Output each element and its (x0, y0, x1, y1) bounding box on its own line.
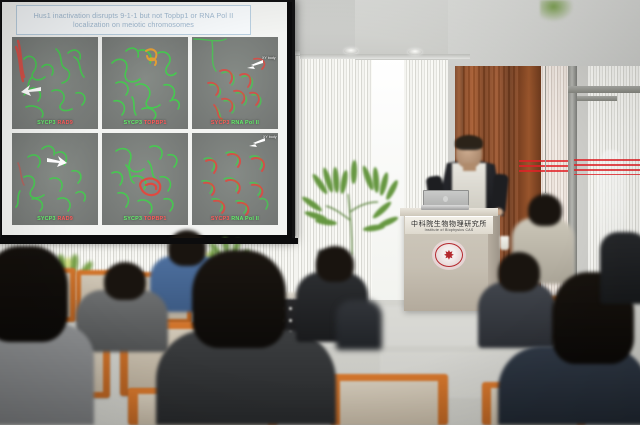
speaker-neck (463, 163, 476, 171)
laptop-logo (443, 196, 448, 202)
window-frame-horizontal (568, 86, 640, 93)
hanging-vine (540, 0, 574, 22)
photo-scene: Hus1 inactivation disrupts 9-1-1 but not… (0, 0, 640, 425)
emblem-glyph: ✸ (444, 249, 455, 262)
podium-name-chinese: 中科院生物物理研究所 (411, 220, 487, 228)
window-frame-mullion (577, 96, 617, 101)
podium-nameplate: 中科院生物物理研究所 Institute of Biophysics CAS (405, 216, 493, 234)
ceiling-edge-trim-right (300, 54, 470, 59)
paper-cup (500, 236, 509, 250)
speaker-glasses (459, 148, 479, 153)
blind-cord[interactable] (545, 62, 546, 194)
window-red-stripes-left (519, 160, 568, 175)
institute-emblem: ✸ (432, 240, 466, 270)
recessed-downlight-2 (408, 49, 422, 55)
recessed-downlight-1 (344, 48, 358, 54)
screen-bezel (0, 0, 295, 242)
window-red-stripes-right (574, 159, 640, 175)
potted-palm-center (296, 150, 406, 260)
laptop-base[interactable] (421, 205, 469, 210)
projection-screen: Hus1 inactivation disrupts 9-1-1 but not… (0, 0, 295, 242)
podium-name-english: Institute of Biophysics CAS (425, 228, 474, 232)
screen-shadow (0, 238, 298, 244)
